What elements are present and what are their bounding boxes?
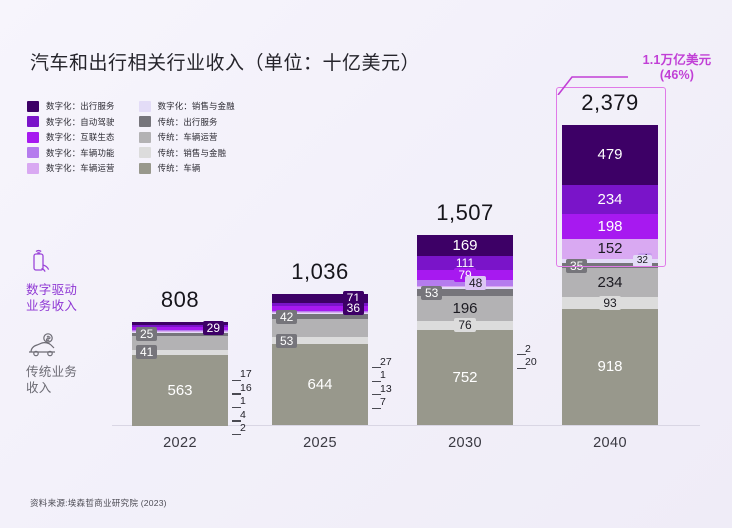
callout-line2: (46%) xyxy=(627,68,727,83)
leader-tick-value: 4 xyxy=(240,409,246,421)
side-label-line1: 传统业务 xyxy=(26,364,112,380)
legend-swatch-icon xyxy=(27,101,39,112)
bar-total-label: 808 xyxy=(132,287,228,313)
segment-value-label: 234 xyxy=(597,275,622,290)
legend-swatch-icon xyxy=(27,132,39,143)
stacked-bar[interactable]: 71364253644 xyxy=(272,294,368,425)
segment-value-label: 479 xyxy=(597,147,622,162)
bar-total-label: 1,036 xyxy=(272,259,368,285)
segment-value-label: 53 xyxy=(276,334,297,348)
callout-line1: 1.1万亿美元 xyxy=(627,53,727,68)
smartphone-signal-icon xyxy=(26,248,112,278)
side-label-text: 传统业务 收入 xyxy=(26,364,112,396)
side-label-line1: 数字驱动 xyxy=(26,282,112,298)
legend-item-label: 数字化：自动驾驶 xyxy=(46,116,115,128)
bar-segment[interactable]: 479 xyxy=(562,125,658,185)
segment-value-label: 169 xyxy=(452,238,477,253)
segment-value-label: 29 xyxy=(203,321,224,335)
leader-tick-value: 17 xyxy=(240,368,252,380)
x-axis-tick-label-2030: 2030 xyxy=(417,435,513,451)
leader-tick-value: 27 xyxy=(380,356,392,368)
chart-container: 汽车和出行相关行业收入（单位：十亿美元） 数字化：出行服务 数字化：自动驾驶 数… xyxy=(0,0,732,528)
segment-value-label: 93 xyxy=(599,296,620,310)
bar-segment[interactable]: 169 xyxy=(417,235,513,256)
segment-value-label: 198 xyxy=(597,219,622,234)
leader-tick-value: 13 xyxy=(380,383,392,395)
segment-value-label: 25 xyxy=(136,327,157,341)
bar-segment[interactable]: 53 xyxy=(272,337,368,344)
legend-swatch-icon xyxy=(27,116,39,127)
legend-item-digital-vehicle-functions[interactable]: 数字化：车辆功能 xyxy=(27,147,115,159)
segment-value-label: 644 xyxy=(307,377,332,392)
bar-segment[interactable]: 198 xyxy=(562,214,658,239)
bar-segment[interactable]: 53 xyxy=(417,289,513,296)
leader-tick-value: 1 xyxy=(380,369,386,381)
bar-segment[interactable]: 196 xyxy=(417,296,513,321)
x-axis-tick-label-2025: 2025 xyxy=(272,435,368,451)
stacked-bar[interactable]: 4792341981524323523493918 xyxy=(562,125,658,425)
legend-item-label: 数字化：车辆功能 xyxy=(46,147,115,159)
segment-value-label: 32 xyxy=(633,255,652,267)
side-label-digital-revenue: 数字驱动 业务收入 xyxy=(26,248,112,314)
legend-item-label: 数字化：车辆运营 xyxy=(46,162,115,174)
bar-segment[interactable]: 234 xyxy=(562,185,658,215)
segment-value-label: 563 xyxy=(167,383,192,398)
segment-value-label: 76 xyxy=(454,318,475,332)
bar-segment[interactable]: 752 xyxy=(417,330,513,425)
legend-item-digital-mobility-services[interactable]: 数字化：出行服务 xyxy=(27,100,115,112)
segment-value-label: 234 xyxy=(597,192,622,207)
segment-value-label: 36 xyxy=(343,301,364,315)
legend-item-label: 数字化：互联生态 xyxy=(46,131,115,143)
bar-segment[interactable]: 93 xyxy=(562,297,658,309)
legend-column-digital: 数字化：出行服务 数字化：自动驾驶 数字化：互联生态 数字化：车辆功能 数字化：… xyxy=(27,100,115,174)
source-note: 资料来源:埃森哲商业研究院 (2023) xyxy=(30,497,167,509)
leader-tick-value: 20 xyxy=(525,356,537,368)
legend-swatch-icon xyxy=(27,163,39,174)
segment-value-label: 918 xyxy=(597,359,622,374)
plot-area: 29254156380820221716142713642536441,0362… xyxy=(112,86,708,426)
legend-item-digital-vehicle-operations[interactable]: 数字化：车辆运营 xyxy=(27,162,115,174)
leader-tick-value: 7 xyxy=(380,396,386,408)
bar-segment[interactable]: 644 xyxy=(272,344,368,425)
side-label-traditional-revenue: 传统业务 收入 xyxy=(26,330,112,396)
bar-segment[interactable]: 918 xyxy=(562,309,658,425)
side-label-line2: 业务收入 xyxy=(26,298,112,314)
legend-item-label: 数字化：出行服务 xyxy=(46,100,115,112)
side-label-line2: 收入 xyxy=(26,380,112,396)
stacked-bar[interactable]: 16911179485319676752 xyxy=(417,235,513,425)
x-axis-tick-label-2040: 2040 xyxy=(562,435,658,451)
segment-value-label: 35 xyxy=(566,259,587,273)
legend-item-digital-connected-ecosystem[interactable]: 数字化：互联生态 xyxy=(27,131,115,143)
page-title: 汽车和出行相关行业收入（单位：十亿美元） xyxy=(30,48,420,75)
segment-value-label: 41 xyxy=(136,345,157,359)
segment-value-label: 152 xyxy=(597,241,622,256)
leader-tick-value: 16 xyxy=(240,382,252,394)
bar-total-label: 1,507 xyxy=(417,200,513,226)
bar-segment[interactable]: 76 xyxy=(417,321,513,331)
callout-label: 1.1万亿美元(46%) xyxy=(627,53,727,83)
segment-value-label: 53 xyxy=(421,286,442,300)
x-axis-tick-label-2022: 2022 xyxy=(132,435,228,451)
segment-value-label: 196 xyxy=(452,301,477,316)
side-label-text: 数字驱动 业务收入 xyxy=(26,282,112,314)
bar-segment[interactable]: 563 xyxy=(132,355,228,426)
leader-tick-value: 2 xyxy=(240,422,246,434)
leader-tick-value: 2 xyxy=(525,343,531,355)
segment-value-label: 48 xyxy=(465,276,486,290)
stacked-bar[interactable]: 292541563 xyxy=(132,322,228,424)
segment-value-label: 42 xyxy=(276,310,297,324)
car-dollar-icon xyxy=(26,330,112,360)
legend-item-digital-autonomous-driving[interactable]: 数字化：自动驾驶 xyxy=(27,116,115,128)
leader-tick-value: 1 xyxy=(240,395,246,407)
segment-value-label: 752 xyxy=(452,370,477,385)
legend-swatch-icon xyxy=(27,147,39,158)
